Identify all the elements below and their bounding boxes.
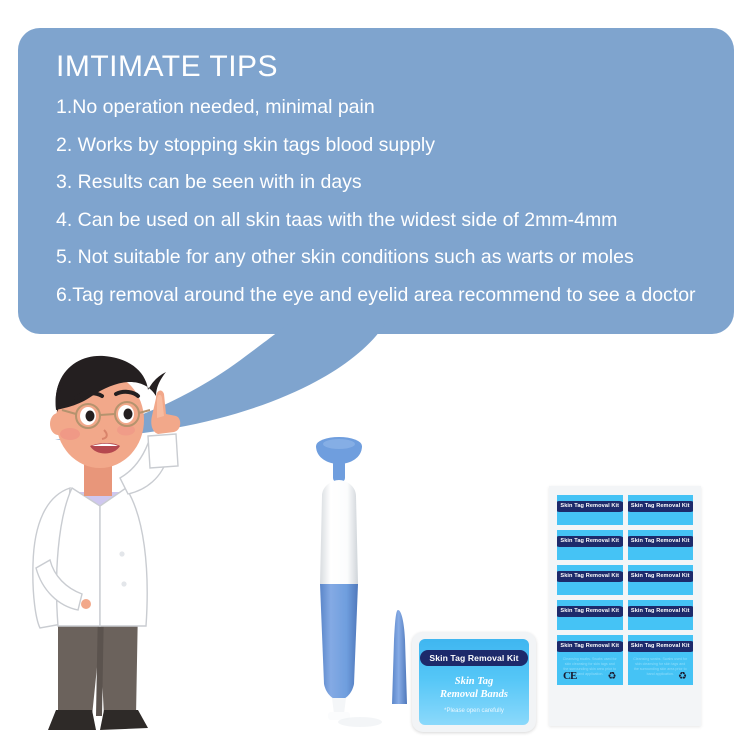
recycle-icon: ♻ xyxy=(608,672,617,682)
sachet-item-detailed: Skin Tag Removal Kit Cleansing swabs. Sw… xyxy=(557,635,623,685)
sachet-item: Skin Tag Removal Kit xyxy=(628,495,694,525)
sachet-item: Skin Tag Removal Kit xyxy=(557,530,623,560)
band-box-note: *Please open carefully xyxy=(419,708,529,714)
sachet-badge: Skin Tag Removal Kit xyxy=(628,641,694,652)
sachet-item: Skin Tag Removal Kit xyxy=(628,600,694,630)
sachet-item: Skin Tag Removal Kit xyxy=(628,530,694,560)
tip-item-4: 4. Can be used on all skin taas with the… xyxy=(56,211,708,231)
tip-item-1: 1.No operation needed, minimal pain xyxy=(56,98,708,118)
sachet-badge: Skin Tag Removal Kit xyxy=(628,536,694,547)
band-box-package: Skin Tag Removal Kit Skin Tag Removal Ba… xyxy=(412,632,536,732)
sachet-badge: Skin Tag Removal Kit xyxy=(628,501,694,512)
tip-item-3: 3. Results can be seen with in days xyxy=(56,173,708,193)
sachet-badge: Skin Tag Removal Kit xyxy=(628,571,694,582)
applicator-lower-body xyxy=(320,584,358,700)
applicator-device xyxy=(300,432,420,732)
sachet-item: Skin Tag Removal Kit xyxy=(628,565,694,595)
applicator-nozzle xyxy=(332,698,346,714)
doctor-hip-hand xyxy=(81,599,91,609)
band-box-badge: Skin Tag Removal Kit xyxy=(420,650,527,666)
recycle-icon: ♻ xyxy=(678,672,687,682)
sachet-marks: CE ♻ xyxy=(557,670,623,682)
sachet-badge: Skin Tag Removal Kit xyxy=(557,501,623,512)
doctor-illustration xyxy=(0,338,232,750)
applicator-cone-tip xyxy=(392,610,407,704)
sachet-item: Skin Tag Removal Kit xyxy=(557,600,623,630)
sachet-marks: CE ♻ xyxy=(628,670,694,682)
tip-item-5: 5. Not suitable for any other skin condi… xyxy=(56,248,708,268)
band-box-title-line2: Removal Bands xyxy=(419,688,529,701)
sachet-grid: Skin Tag Removal Kit Skin Tag Removal Ki… xyxy=(557,495,693,717)
sachet-item-detailed: Skin Tag Removal Kit Cleansing swabs. Sw… xyxy=(628,635,694,685)
sachet-badge: Skin Tag Removal Kit xyxy=(628,606,694,617)
band-box-face: Skin Tag Removal Kit Skin Tag Removal Ba… xyxy=(419,639,529,725)
applicator-upper-body xyxy=(320,480,358,584)
tip-item-2: 2. Works by stopping skin tags blood sup… xyxy=(56,136,708,156)
applicator-plunger-cap xyxy=(316,437,362,482)
band-box-title-line1: Skin Tag xyxy=(419,675,529,688)
tip-item-6: 6.Tag removal around the eye and eyelid … xyxy=(56,286,708,306)
tips-speech-bubble: IMTIMATE TIPS 1.No operation needed, min… xyxy=(18,28,734,334)
doctor-pointing-hand xyxy=(151,391,180,434)
doctor-cheek-left xyxy=(60,428,80,440)
page-title: IMTIMATE TIPS xyxy=(56,50,708,84)
sachet-badge: Skin Tag Removal Kit xyxy=(557,536,623,547)
ce-mark-icon: CE xyxy=(563,670,576,682)
sachet-badge: Skin Tag Removal Kit xyxy=(557,571,623,582)
sachet-badge: Skin Tag Removal Kit xyxy=(557,606,623,617)
sachet-badge: Skin Tag Removal Kit xyxy=(557,641,623,652)
sachet-item: Skin Tag Removal Kit xyxy=(557,565,623,595)
sachet-item: Skin Tag Removal Kit xyxy=(557,495,623,525)
sachet-sheet: Skin Tag Removal Kit Skin Tag Removal Ki… xyxy=(549,486,701,726)
